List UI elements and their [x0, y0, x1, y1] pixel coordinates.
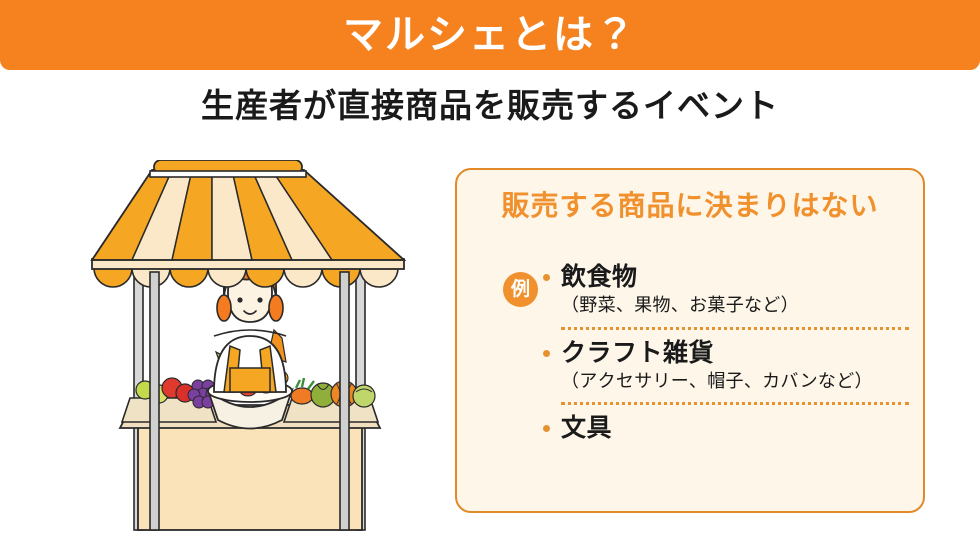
bullet-dot-icon — [543, 274, 550, 281]
list-item-sublabel: （野菜、果物、お菓子など） — [561, 294, 901, 317]
divider — [561, 327, 909, 330]
info-card: 販売する商品に決まりはない 例 飲食物 （野菜、果物、お菓子など） クラフト雑貨… — [455, 168, 925, 513]
list-item-sublabel: （アクセサリー、帽子、カバンなど） — [561, 370, 901, 393]
market-stall-illustration — [90, 160, 410, 540]
divider — [561, 402, 909, 405]
card-title: 販売する商品に決まりはない — [457, 192, 923, 220]
list-item-label: 文具 — [561, 413, 612, 444]
list-item-label: クラフト雑貨 — [561, 338, 714, 369]
list-item: 飲食物 （野菜、果物、お菓子など） — [543, 262, 901, 318]
list-item: クラフト雑貨 （アクセサリー、帽子、カバンなど） — [543, 338, 901, 394]
list-item-label: 飲食物 — [561, 262, 638, 293]
bullet-dot-icon — [543, 425, 550, 432]
bullet-dot-icon — [543, 350, 550, 357]
product-category-list: 飲食物 （野菜、果物、お菓子など） クラフト雑貨 （アクセサリー、帽子、カバンな… — [543, 262, 901, 445]
subtitle: 生産者が直接商品を販売するイベント — [0, 86, 980, 126]
header-banner: マルシェとは？ — [0, 0, 980, 70]
example-badge: 例 — [503, 272, 538, 307]
page-title: マルシェとは？ — [343, 15, 637, 55]
list-item: 文具 — [543, 413, 901, 444]
